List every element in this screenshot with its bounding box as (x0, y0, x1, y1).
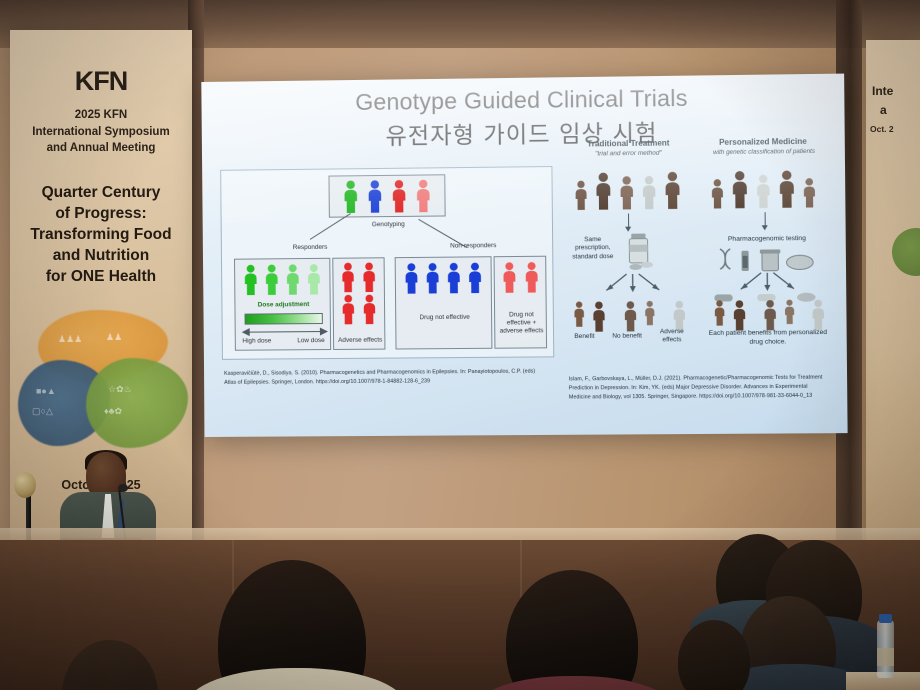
person-icon-crowd-5 (660, 171, 685, 210)
person-icon-crowd2-1 (707, 178, 728, 209)
banner-theme-line-3: Transforming Food (16, 225, 186, 246)
low-dose-label: Low dose (294, 337, 328, 345)
person-icon-adverse-4 (360, 294, 379, 324)
arrow-left-icon (242, 328, 250, 337)
person-icon-nobenefit-1 (620, 300, 642, 331)
person-icon-nr-adverse-2 (521, 262, 541, 293)
genotyping-cohort-figures (329, 175, 444, 216)
illustration-glyph-3: ■●▲ (36, 386, 56, 396)
person-icon-responder-3 (283, 264, 302, 295)
person-icon-red (389, 180, 409, 213)
illustration-glyph-4: ▢○△ (32, 406, 53, 417)
person-icon-responder-4 (304, 264, 323, 295)
banner-subtitle: 2025 KFN International Symposium and Ann… (10, 107, 192, 157)
person-icon-pbenefit-2 (729, 299, 751, 331)
projection-screen: Genotype Guided Clinical Trials 유전자형 가이드… (201, 74, 847, 437)
dose-axis-line (246, 331, 322, 333)
banner-theme-line-1: Quarter Century (16, 183, 186, 204)
personalized-benefit-label: Each patient benefits from personalized … (707, 329, 830, 347)
banner-right-date: Oct. 2 (866, 124, 920, 134)
diagram-personalized-medicine: Traditional Treatment "trial and error m… (564, 137, 833, 362)
traditional-patient-group (571, 171, 685, 211)
arrow-stem-personalized (765, 212, 767, 226)
person-icon-nonresponder-3 (444, 263, 463, 294)
citation-right: Islam, F., Garbovskaya, L., Müller, D.J.… (569, 373, 826, 402)
person-icon-nr-adverse-1 (499, 262, 519, 293)
dose-adjustment-label: Dose adjustment (235, 301, 331, 310)
banner-theme-line-5: for ONE Health (16, 267, 186, 288)
responders-label: Responders (282, 244, 338, 253)
benefit-label: Benefit (566, 333, 603, 340)
person-icon-crowd2-2 (727, 170, 752, 209)
adverse-effects-label: Adverse effects (334, 337, 386, 345)
person-icon-blue (365, 180, 385, 213)
outcome-arrows-traditional (584, 272, 682, 297)
person-icon-adverse-1 (338, 263, 357, 293)
arrow-stem-traditional (628, 214, 630, 228)
banner-subtitle-line-3: and Annual Meeting (20, 140, 182, 157)
dose-gradient-bar (245, 313, 323, 325)
banner-right-line-2: a (872, 101, 920, 120)
pill-bottle-icon (622, 231, 655, 270)
illustration-glyph-1: ♟♟♟ (58, 334, 82, 345)
high-dose-label: High dose (240, 337, 274, 345)
banner-subtitle-line-2: International Symposium (20, 124, 182, 141)
responders-adverse-box: Adverse effects (332, 257, 385, 350)
person-icon-crowd2-3 (752, 174, 775, 209)
person-icon-light-red (413, 179, 433, 212)
water-bottle-label (877, 648, 894, 666)
person-icon-adverse-2 (359, 262, 378, 292)
person-icon-responder-2 (262, 264, 281, 295)
benefit-group (570, 300, 610, 332)
nonresponders-adverse-box: Drug not effective + adverse effects (494, 256, 548, 349)
person-icon-crowd2-5 (799, 177, 820, 208)
person-icon-pbenefit-3 (759, 299, 781, 331)
conference-banner-right: Inte a Oct. 2 (866, 40, 920, 560)
person-icon-crowd-4 (638, 175, 661, 210)
person-icon-nonresponder-1 (402, 263, 421, 294)
person-icon-adverse-outcome (669, 300, 691, 331)
adverse-figures-row-1 (333, 258, 384, 293)
person-icon-crowd2-4 (774, 169, 799, 208)
banner-right-line-1: Inte (872, 82, 920, 101)
personalized-outcomes-figures (710, 299, 829, 331)
nonresponder-adverse-figures (495, 257, 546, 294)
drug-not-effective-label: Drug not effective (396, 314, 493, 323)
person-icon-nobenefit-2 (641, 300, 659, 325)
conference-room-photo: KFN 2025 KFN International Symposium and… (0, 0, 920, 690)
person-icon-responder-1 (241, 264, 260, 295)
person-icon-pbenefit-1 (710, 299, 729, 325)
citation-left: Kasperavičiūtė, D., Sisodiya, S. (2010).… (224, 368, 538, 389)
drug-not-effective-adverse-label: Drug not effective + adverse effects (497, 311, 546, 336)
adverse-effects-outcome-label: Adverse effects (654, 328, 691, 344)
water-bottle-cap (879, 614, 892, 623)
banner-theme-line-2: of Progress: (16, 204, 186, 225)
banner-right-graphic (892, 228, 920, 276)
responders-figures (235, 259, 330, 296)
arrow-down-personalized (762, 225, 768, 230)
person-icon-crowd-1 (571, 180, 592, 210)
nonresponders-label: Non-responders (441, 242, 506, 251)
banner-theme-line-4: and Nutrition (16, 246, 186, 267)
person-icon-pbenefit-5 (807, 299, 829, 331)
nonresponder-figures (396, 257, 491, 294)
person-icon-benefit-1 (570, 301, 589, 327)
diagram-genotype-guided-trial: Genotyping Responders Non-responders Dos… (220, 166, 554, 360)
illustration-glyph-2: ♟♟ (106, 332, 122, 343)
illustration-glyph-6: ♦♣✿ (104, 406, 122, 417)
personalized-group-2 (759, 299, 798, 331)
personalized-medicine-title: Personalized Medicine (699, 137, 828, 148)
illustration-blob-green (86, 358, 188, 448)
person-icon-crowd-2 (591, 171, 616, 210)
presentation-slide: Genotype Guided Clinical Trials 유전자형 가이드… (201, 74, 847, 437)
person-icon-nonresponder-2 (423, 263, 442, 294)
illustration-glyph-5: ☆✿♨ (108, 384, 132, 395)
person-icon-nonresponder-4 (465, 262, 484, 293)
genotyping-label: Genotyping (359, 221, 417, 230)
genotyping-cohort-box (328, 174, 445, 217)
nonresponders-box: Drug not effective (395, 256, 493, 349)
banner-subtitle-line-1: 2025 KFN (20, 107, 182, 124)
pharmacogenomic-testing-label: Pharmacogenomic testing (710, 235, 825, 243)
person-icon-green (341, 180, 361, 213)
kfn-logo: KFN (10, 66, 192, 97)
podium-microphone-head (118, 484, 128, 492)
adverse-figures-row-2 (334, 292, 385, 325)
person-icon-benefit-2 (588, 300, 610, 331)
person-icon-crowd-3 (615, 175, 638, 210)
traditional-treatment-subtitle: "trial and error method" (564, 149, 692, 158)
same-prescription-label: Same prescription, standard dose (569, 236, 616, 262)
person-icon-pbenefit-4 (781, 299, 799, 324)
responders-box: Dose adjustment High dose Low dose (234, 258, 331, 351)
floor-microphone-head (14, 472, 36, 498)
no-benefit-group (620, 300, 659, 332)
banner-theme: Quarter Century of Progress: Transformin… (10, 183, 192, 288)
traditional-treatment-title: Traditional Treatment (564, 138, 692, 149)
arrow-right-icon (320, 327, 328, 336)
person-icon-adverse-3 (339, 295, 358, 325)
personalized-medicine-subtitle: with genetic classification of patients (703, 148, 826, 157)
personalized-patient-group (707, 169, 820, 209)
kfn-logo-text: KFN (75, 66, 128, 96)
no-benefit-label: No benefit (605, 332, 650, 339)
personalized-group-1 (710, 299, 750, 331)
banner-right-title: Inte a (866, 40, 920, 120)
